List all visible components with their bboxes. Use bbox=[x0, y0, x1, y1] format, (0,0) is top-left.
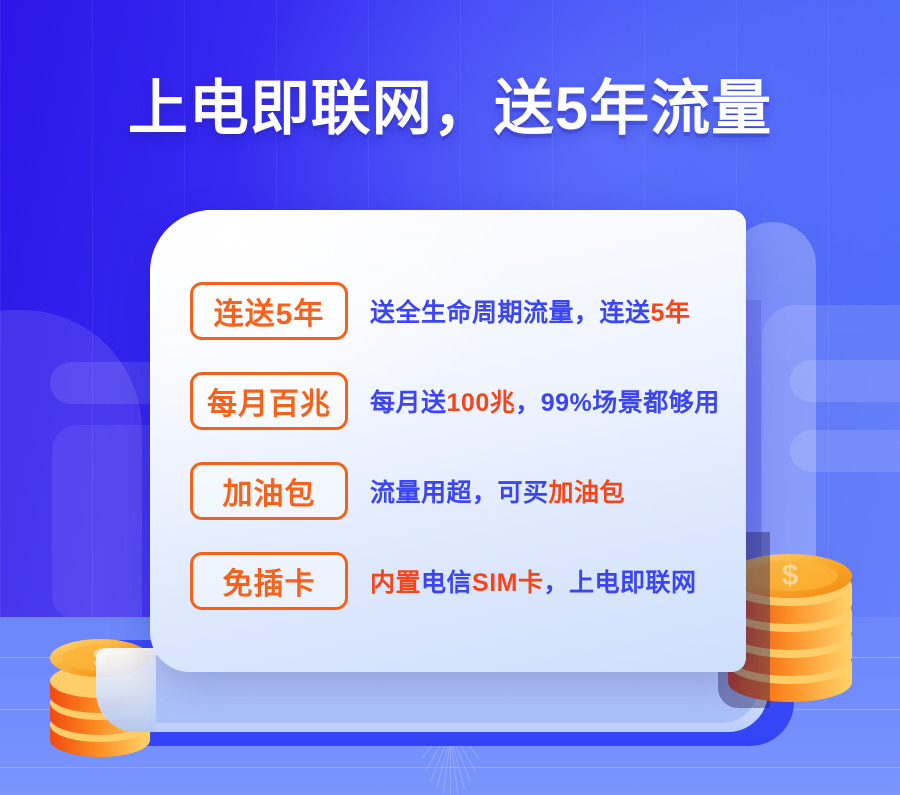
feature-badge: 每月百兆 bbox=[190, 372, 348, 430]
feature-description: 每月送100兆，99%场景都够用 bbox=[370, 383, 720, 419]
desc-text: 送全生命周期流量，连送 bbox=[370, 299, 651, 327]
feature-description: 内置电信SIM卡，上电即联网 bbox=[370, 563, 697, 599]
desc-text: ，99%场景都够用 bbox=[515, 389, 720, 417]
desc-highlight: 加油包 bbox=[549, 479, 626, 507]
desc-text: 每月送 bbox=[370, 389, 447, 417]
feature-badge: 免插卡 bbox=[190, 552, 348, 610]
feature-row: 加油包流量用超，可买加油包 bbox=[190, 460, 720, 522]
desc-text: ，上电即联网 bbox=[543, 569, 696, 597]
feature-card: 连送5年送全生命周期流量，连送5年每月百兆每月送100兆，99%场景都够用加油包… bbox=[150, 210, 746, 672]
desc-highlight: 100兆 bbox=[447, 389, 516, 417]
desc-highlight: 内置 bbox=[370, 569, 421, 597]
feature-list: 连送5年送全生命周期流量，连送5年每月百兆每月送100兆，99%场景都够用加油包… bbox=[190, 280, 720, 640]
coin-stack-left: $ bbox=[42, 618, 162, 768]
promo-poster: 上电即联网，送5年流量 bbox=[0, 0, 900, 795]
feature-description: 流量用超，可买加油包 bbox=[370, 473, 625, 509]
desc-highlight: 5年 bbox=[651, 299, 691, 327]
coin-dollar-symbol-right: $ bbox=[782, 559, 799, 592]
feature-row: 免插卡内置电信SIM卡，上电即联网 bbox=[190, 550, 720, 612]
feature-description: 送全生命周期流量，连送5年 bbox=[370, 293, 690, 329]
feature-badge: 加油包 bbox=[190, 462, 348, 520]
feature-row: 连送5年送全生命周期流量，连送5年 bbox=[190, 280, 720, 342]
feature-row: 每月百兆每月送100兆，99%场景都够用 bbox=[190, 370, 720, 432]
desc-highlight: SIM卡 bbox=[472, 569, 543, 597]
feature-badge: 连送5年 bbox=[190, 282, 348, 340]
page-title: 上电即联网，送5年流量 bbox=[0, 79, 900, 139]
desc-text: 流量用超，可买 bbox=[370, 479, 549, 507]
coin-dollar-symbol-left: $ bbox=[93, 644, 107, 672]
desc-text: 电信 bbox=[421, 569, 472, 597]
